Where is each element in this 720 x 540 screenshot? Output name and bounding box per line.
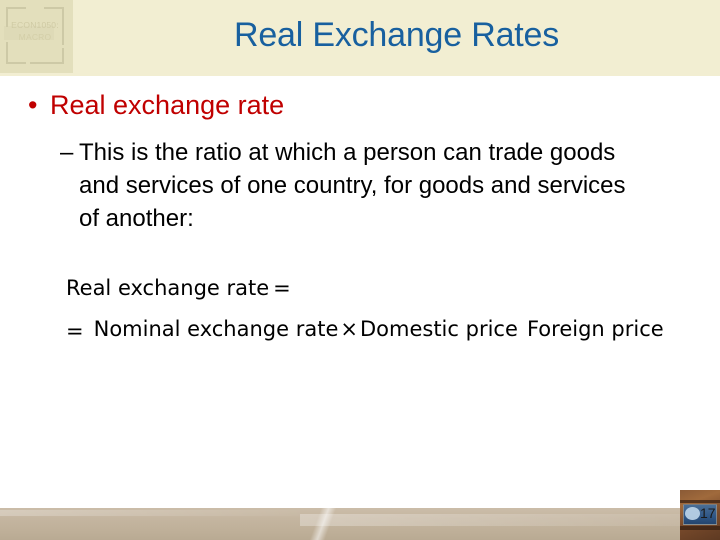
real-exchange-rate-formula: Real exchange rate= = Nominal exchange r… bbox=[66, 274, 666, 344]
page-title: Real Exchange Rates bbox=[73, 13, 720, 57]
bracket-bottom-right-v bbox=[62, 48, 64, 64]
formula-numerator: Nominal exchange rate×Domestic price bbox=[90, 317, 522, 343]
formula-numerator-left: Nominal exchange rate bbox=[94, 317, 339, 341]
bracket-bottom-left-h bbox=[6, 62, 26, 64]
decoration-shelf-bottom bbox=[680, 526, 720, 530]
course-name-line: MACRO bbox=[6, 31, 64, 43]
bracket-top-left-h bbox=[6, 7, 26, 9]
title-band: ECON1050: MACRO Real Exchange Rates bbox=[0, 0, 720, 76]
slide-body: • Real exchange rate – This is the ratio… bbox=[0, 76, 720, 508]
formula-label-text: Real exchange rate bbox=[66, 276, 269, 300]
bullet-dash-icon: – bbox=[60, 136, 79, 169]
bracket-top-right-h bbox=[44, 7, 64, 9]
logo-bracket-frame: ECON1050: MACRO bbox=[6, 7, 64, 64]
formula-numerator-right: Domestic price bbox=[360, 317, 518, 341]
formula-line-label: Real exchange rate= bbox=[66, 274, 666, 302]
footer-diagonal-seam bbox=[268, 508, 378, 540]
formula-equals-sign-2: = bbox=[66, 320, 90, 342]
bracket-bottom-left-v bbox=[6, 42, 8, 64]
decoration-blob bbox=[685, 507, 700, 520]
formula-denominator: Foreign price bbox=[527, 315, 664, 341]
course-code-line: ECON1050: bbox=[6, 19, 64, 31]
bullet-level2: – This is the ratio at which a person ca… bbox=[60, 136, 700, 235]
slide-number: 17 bbox=[700, 505, 716, 521]
course-logo-text: ECON1050: MACRO bbox=[6, 19, 64, 43]
multiplication-icon: × bbox=[338, 317, 360, 341]
slide: ECON1050: MACRO Real Exchange Rates • Re… bbox=[0, 0, 720, 540]
bullet-dot-icon: • bbox=[28, 88, 50, 122]
formula-line-fraction: = Nominal exchange rate×Domestic price F… bbox=[66, 314, 666, 344]
footer-highlight-left bbox=[0, 510, 300, 516]
bullet-level1-text: Real exchange rate bbox=[50, 88, 284, 122]
bullet-level2-text: This is the ratio at which a person can … bbox=[79, 136, 649, 235]
formula-fraction: Nominal exchange rate×Domestic price For… bbox=[90, 314, 664, 344]
footer-image-strip bbox=[0, 508, 720, 540]
formula-equals-sign-1: = bbox=[269, 276, 291, 300]
course-logo: ECON1050: MACRO bbox=[0, 0, 73, 73]
bracket-bottom-right-h bbox=[30, 62, 64, 64]
decoration-shelf-top bbox=[680, 500, 720, 503]
bullet-level1: • Real exchange rate bbox=[28, 88, 688, 122]
